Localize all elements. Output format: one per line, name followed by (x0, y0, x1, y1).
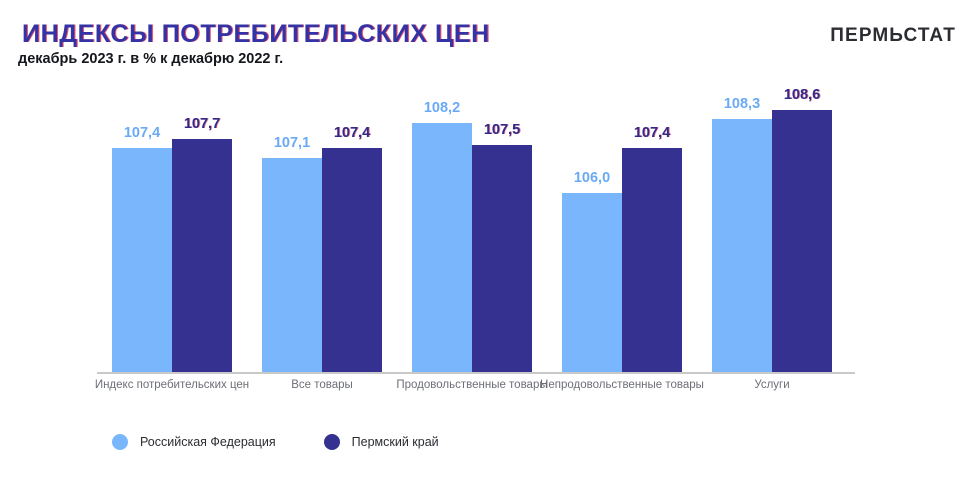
x-axis-category-labels: Индекс потребительских ценВсе товарыПрод… (0, 378, 976, 418)
bar[interactable] (712, 119, 772, 372)
bar-slot: 108,2 (412, 97, 472, 372)
legend-swatch-icon (112, 434, 128, 450)
bar[interactable] (412, 123, 472, 372)
bar-slot: 108,6 (772, 97, 832, 372)
bar[interactable] (262, 158, 322, 372)
bar-slot: 106,0 (562, 97, 622, 372)
bar[interactable] (112, 148, 172, 372)
page-title: ИНДЕКСЫ ПОТРЕБИТЕЛЬСКИХ ЦЕН (22, 20, 490, 49)
bar-slot: 107,1 (262, 97, 322, 372)
chart-header: ИНДЕКСЫ ПОТРЕБИТЕЛЬСКИХ ЦЕН декабрь 2023… (0, 0, 976, 80)
category-label: Услуги (672, 378, 872, 393)
bar-chart-plot: 107,4107,7107,1107,4108,2107,5106,0107,4… (0, 85, 976, 385)
bar[interactable] (322, 148, 382, 372)
legend-item[interactable]: Российская Федерация (112, 434, 276, 450)
legend-label: Пермский край (352, 435, 439, 449)
bar-slot: 107,5 (472, 97, 532, 372)
bar[interactable] (622, 148, 682, 372)
bar-value-label: 107,7 (172, 116, 232, 132)
bar-value-label: 108,6 (772, 87, 832, 103)
bar-slot: 107,4 (322, 97, 382, 372)
bar-slot: 108,3 (712, 97, 772, 372)
bar-group: 108,2107,5 (412, 97, 532, 372)
bar-value-label: 107,4 (622, 125, 682, 141)
bar-group: 107,4107,7 (112, 97, 232, 372)
legend-item[interactable]: Пермский край (324, 434, 439, 450)
bar-group: 107,1107,4 (262, 97, 382, 372)
bar-value-label: 107,4 (112, 125, 172, 141)
bar[interactable] (472, 145, 532, 372)
chart-legend: Российская ФедерацияПермский край (112, 430, 487, 454)
bar-group: 108,3108,6 (712, 97, 832, 372)
chart-subtitle: декабрь 2023 г. в % к декабрю 2022 г. (18, 51, 283, 67)
bar-value-label: 106,0 (562, 170, 622, 186)
bar-value-label: 108,3 (712, 96, 772, 112)
bar-value-label: 107,4 (322, 125, 382, 141)
bar-value-label: 108,2 (412, 100, 472, 116)
bar-slot: 107,4 (622, 97, 682, 372)
legend-swatch-icon (324, 434, 340, 450)
bar-value-label: 107,1 (262, 135, 322, 151)
bar[interactable] (772, 110, 832, 372)
bar-slot: 107,7 (172, 97, 232, 372)
bar-group: 106,0107,4 (562, 97, 682, 372)
bar[interactable] (172, 139, 232, 372)
x-axis-line (97, 372, 855, 374)
brand-logo: ПЕРМЬСТАТ (830, 25, 956, 47)
bar-slot: 107,4 (112, 97, 172, 372)
legend-label: Российская Федерация (140, 435, 276, 449)
bar-value-label: 107,5 (472, 122, 532, 138)
bar[interactable] (562, 193, 622, 372)
